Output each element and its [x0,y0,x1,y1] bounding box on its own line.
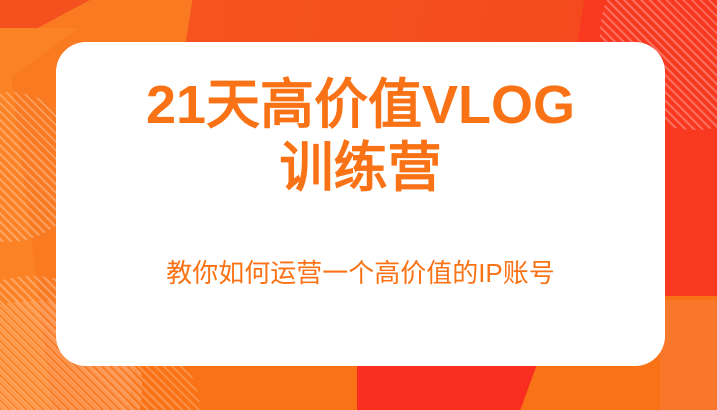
poster-title-line-1: 21天高价值VLOG [56,74,665,137]
poster-subtitle: 教你如何运营一个高价值的IP账号 [166,253,555,290]
poster-title-line-2: 训练营 [56,137,665,200]
title-block: 21天高价值VLOG 训练营 [56,74,665,199]
content-card: 21天高价值VLOG 训练营 教你如何运营一个高价值的IP账号 [56,42,665,366]
bottom-right-orange-block [660,300,717,410]
promo-poster: 21天高价值VLOG 训练营 教你如何运营一个高价值的IP账号 [0,0,717,410]
